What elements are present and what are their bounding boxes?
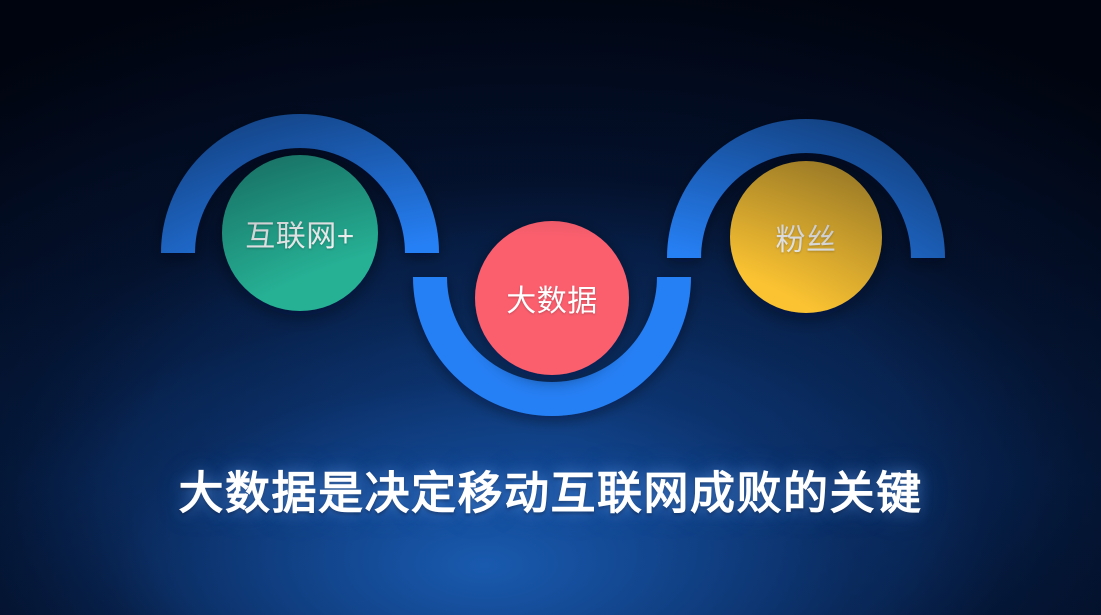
slide-canvas: 互联网+ 大数据 粉丝 大数据是决定移动互联网成败的关键 bbox=[0, 0, 1101, 615]
node-circle-internet-plus[interactable] bbox=[222, 155, 378, 311]
node-circle-big-data[interactable] bbox=[475, 221, 629, 375]
headline-title: 大数据是决定移动互联网成败的关键 bbox=[178, 457, 922, 522]
node-circle-group bbox=[222, 155, 882, 375]
node-circle-fans[interactable] bbox=[730, 161, 882, 313]
infographic-artwork bbox=[0, 0, 1101, 615]
